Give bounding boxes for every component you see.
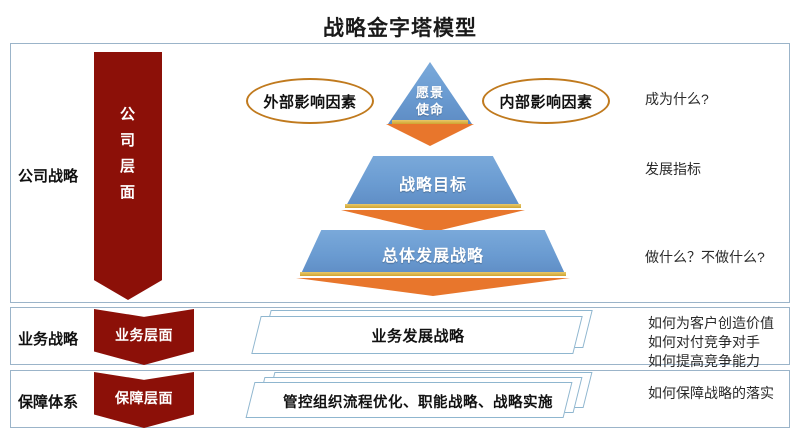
support-strategy-stack: 管控组织流程优化、职能战略、战略实施 [248, 372, 588, 424]
tier1-label: 愿景 使命 [388, 84, 472, 118]
pyramid-tier-vision: 愿景 使命 [388, 62, 472, 124]
tier2-gold-edge [345, 204, 521, 208]
tier3-label: 总体发展战略 [300, 242, 566, 266]
row-label-business: 业务战略 [18, 328, 78, 349]
tier2-label: 战略目标 [345, 171, 521, 195]
corporate-level-banner-label: 公司层面 [94, 102, 162, 206]
internal-factors-ellipse: 内部影响因素 [482, 78, 610, 124]
diagram-canvas: 战略金字塔模型 公司战略 业务战略 保障体系 公司层面 业务层面 保障层面 愿景… [0, 0, 800, 435]
business-strategy-stack: 业务发展战略 [248, 310, 588, 360]
business-level-banner-label: 业务层面 [94, 325, 194, 345]
note-business-line1: 如何为客户创造价值 [648, 314, 774, 333]
corporate-level-banner: 公司层面 [94, 52, 162, 300]
row-label-corporate: 公司战略 [18, 165, 78, 186]
note-vision: 成为什么? [645, 90, 709, 109]
support-stack-label: 管控组织流程优化、职能战略、战略实施 [248, 391, 588, 412]
page-title: 战略金字塔模型 [0, 12, 800, 42]
note-support: 如何保障战略的落实 [648, 384, 774, 403]
pyramid-tier-overall: 总体发展战略 [300, 230, 566, 276]
note-overall: 做什么？不做什么? [645, 248, 765, 267]
note-business: 如何为客户创造价值 如何对付竞争对手 如何提高竞争能力 [648, 314, 774, 371]
tier1-gold-edge [392, 120, 468, 124]
support-level-banner-label: 保障层面 [94, 388, 194, 408]
row-label-support: 保障体系 [18, 391, 78, 412]
note-goal: 发展指标 [645, 160, 701, 179]
external-factors-ellipse: 外部影响因素 [246, 78, 374, 124]
note-business-line3: 如何提高竞争能力 [648, 352, 774, 371]
note-business-line2: 如何对付竞争对手 [648, 333, 774, 352]
tier1-label-line1: 愿景 [388, 84, 472, 101]
tier1-label-line2: 使命 [388, 101, 472, 118]
business-stack-label: 业务发展战略 [248, 325, 588, 346]
pyramid-tier-goal: 战略目标 [345, 156, 521, 208]
tier3-gold-edge [300, 272, 566, 276]
